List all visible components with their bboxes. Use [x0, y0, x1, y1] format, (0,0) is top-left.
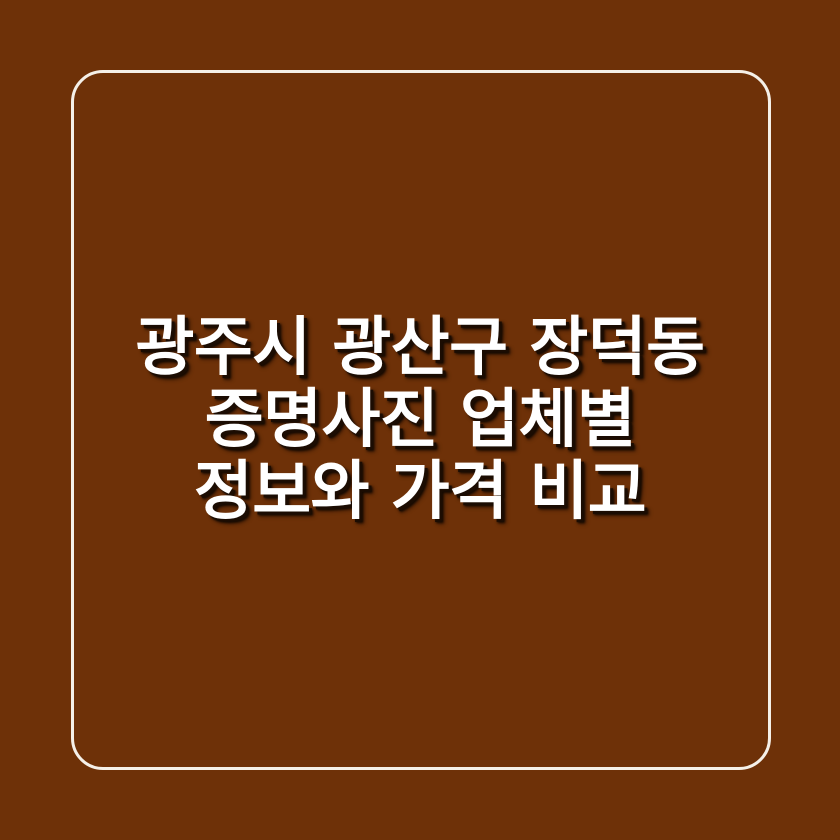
title-line-2: 증명사진 업체별: [90, 384, 750, 456]
page-title: 광주시 광산구 장덕동 증명사진 업체별 정보와 가격 비교: [0, 0, 840, 840]
title-line-3: 정보와 가격 비교: [90, 456, 750, 528]
thumbnail-card: 광주시 광산구 장덕동 증명사진 업체별 정보와 가격 비교: [0, 0, 840, 840]
title-line-1: 광주시 광산구 장덕동: [90, 312, 750, 384]
